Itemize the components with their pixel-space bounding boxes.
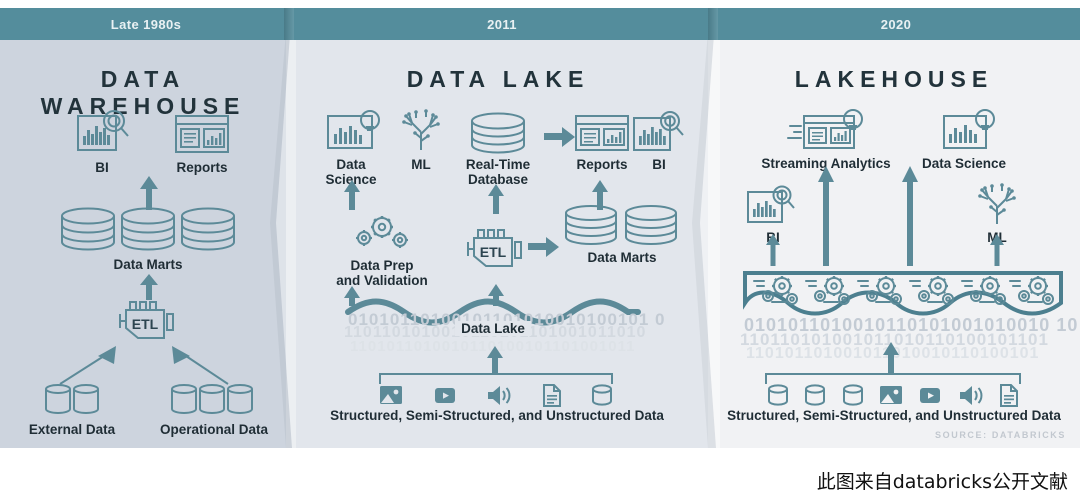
lh-node-data-science: Data Science (908, 106, 1020, 171)
era-header-data-lake: 2011 (288, 8, 716, 40)
dw-node-data-marts: Data Marts (40, 204, 256, 272)
lh-arrow-to-bi (764, 234, 782, 266)
image-caption: 此图来自databricks公开文献 (817, 467, 1068, 494)
dl-arrow-prep-to-ds (342, 180, 362, 210)
dl-node-ml: ML (392, 108, 450, 172)
video-file-icon (917, 382, 943, 408)
bi-chart-magnifier-icon (62, 108, 142, 156)
lh-node-streaming-analytics: Streaming Analytics (742, 106, 910, 171)
etl-engine-icon: ETL (456, 226, 538, 276)
dl-node-real-time-database: Real-Time Database (452, 108, 544, 187)
dw-arrow-operational-to-etl (166, 344, 236, 386)
dl-node-data-science: Data Science (312, 108, 390, 187)
dl-label-data-prep-1: Data Prep (320, 258, 444, 273)
gears-icon (320, 214, 444, 252)
dw-node-external-data: External Data (14, 382, 130, 437)
database-cylinder-icon (841, 382, 865, 408)
dl-source-icons (378, 382, 614, 408)
dl-label-data-prep-2: and Validation (320, 273, 444, 288)
lh-arrow-to-ml (988, 234, 1006, 266)
arrow-up-icon (486, 184, 506, 214)
era-label: 2011 (487, 17, 517, 32)
dw-arrow-external-to-etl (58, 344, 128, 386)
database-cylinder-icon (556, 200, 688, 246)
lakehouse-evolution-diagram: Late 1980s 2011 2020 DATA WAREHOUSE DATA… (0, 8, 1080, 448)
arrow-up-icon (58, 344, 128, 386)
dl-arrow-sources-to-lake (484, 346, 506, 374)
database-cylinder-icon (452, 108, 544, 154)
dw-node-etl: ETL (108, 298, 190, 348)
dw-node-operational-data: Operational Data (144, 382, 284, 437)
arrow-up-icon (816, 166, 836, 266)
era-header-data-warehouse: Late 1980s (0, 8, 292, 40)
panel-title-data-lake: DATA LAKE (292, 66, 704, 93)
dl-node-data-lake: Data Lake (346, 320, 640, 338)
arrow-up-icon (138, 274, 160, 300)
arrow-up-icon (484, 346, 506, 374)
dl-label-rtdb-1: Real-Time (452, 157, 544, 172)
dw-label-data-marts: Data Marts (40, 257, 256, 272)
database-cylinder-icon (40, 204, 256, 252)
panel-title-lakehouse: LAKEHOUSE (714, 66, 1074, 93)
database-cylinder-icon (144, 382, 284, 416)
data-science-chart-bulb-icon (908, 106, 1020, 154)
dw-label-external-data: External Data (14, 422, 130, 437)
image-file-icon (378, 382, 404, 408)
dl-node-data-marts: Data Marts (556, 200, 688, 265)
dl-label-sources: Structured, Semi-Structured, and Unstruc… (300, 408, 694, 423)
arrow-up-icon (342, 180, 362, 210)
dw-node-bi: BI (62, 108, 142, 175)
source-note: SOURCE: DATABRICKS (935, 430, 1066, 440)
bi-chart-magnifier-icon (736, 184, 810, 228)
bi-chart-magnifier-icon (626, 108, 692, 154)
arrow-up-icon (166, 344, 236, 386)
image-file-icon (878, 382, 904, 408)
database-cylinder-icon (14, 382, 130, 416)
dl-etl-text: ETL (480, 244, 507, 260)
infographic-stage: Late 1980s 2011 2020 DATA WAREHOUSE DATA… (0, 0, 1080, 500)
etl-engine-icon: ETL (108, 298, 190, 348)
dw-etl-text: ETL (132, 316, 159, 332)
database-cylinder-icon (590, 382, 614, 408)
dl-label-data-marts: Data Marts (556, 250, 688, 265)
video-file-icon (432, 382, 458, 408)
document-file-icon (541, 382, 563, 408)
streaming-analytics-icon (742, 106, 910, 154)
audio-file-icon (957, 382, 985, 408)
data-science-chart-bulb-icon (312, 108, 390, 154)
lh-arrow-to-streaming-analytics (816, 166, 836, 266)
database-cylinder-icon (803, 382, 827, 408)
era-label: 2020 (881, 17, 912, 32)
dl-label-ml: ML (392, 157, 450, 172)
reports-dashboard-icon (158, 108, 246, 156)
audio-file-icon (485, 382, 513, 408)
lh-arrow-sources-to-engine (880, 342, 902, 374)
document-file-icon (998, 382, 1020, 408)
dw-label-bi: BI (62, 160, 142, 175)
dw-label-operational-data: Operational Data (144, 422, 284, 437)
lh-delta-engine-box (742, 270, 1064, 318)
era-label: Late 1980s (111, 17, 182, 32)
gears-icon (742, 270, 1064, 320)
dl-node-bi: BI (626, 108, 692, 172)
dl-label-data-science-1: Data (312, 157, 390, 172)
dw-label-reports: Reports (158, 160, 246, 175)
dl-node-etl: ETL (456, 226, 538, 276)
header-separator (708, 8, 718, 40)
header-separator (284, 8, 294, 40)
lh-label-sources: Structured, Semi-Structured, and Unstruc… (714, 408, 1074, 423)
era-header-lakehouse: 2020 (712, 8, 1080, 40)
arrow-up-icon (764, 234, 782, 266)
ml-brain-circuit-icon (962, 184, 1032, 228)
dw-node-reports: Reports (158, 108, 246, 175)
database-cylinder-icon (766, 382, 790, 408)
arrow-up-icon (880, 342, 902, 374)
arrow-up-icon (900, 166, 920, 266)
dl-node-data-prep: Data Prep and Validation (320, 214, 444, 288)
dw-arrow-etl-to-marts (138, 274, 160, 300)
dl-label-bi: BI (626, 157, 692, 172)
arrow-up-icon (988, 234, 1006, 266)
lh-arrow-to-data-science (900, 166, 920, 266)
lh-source-icons (766, 382, 1020, 408)
dl-arrow-etl-to-rtdb (486, 184, 506, 214)
lh-label-data-science: Data Science (908, 156, 1020, 171)
ml-brain-circuit-icon (392, 108, 450, 154)
dl-label-data-lake: Data Lake (455, 321, 531, 336)
